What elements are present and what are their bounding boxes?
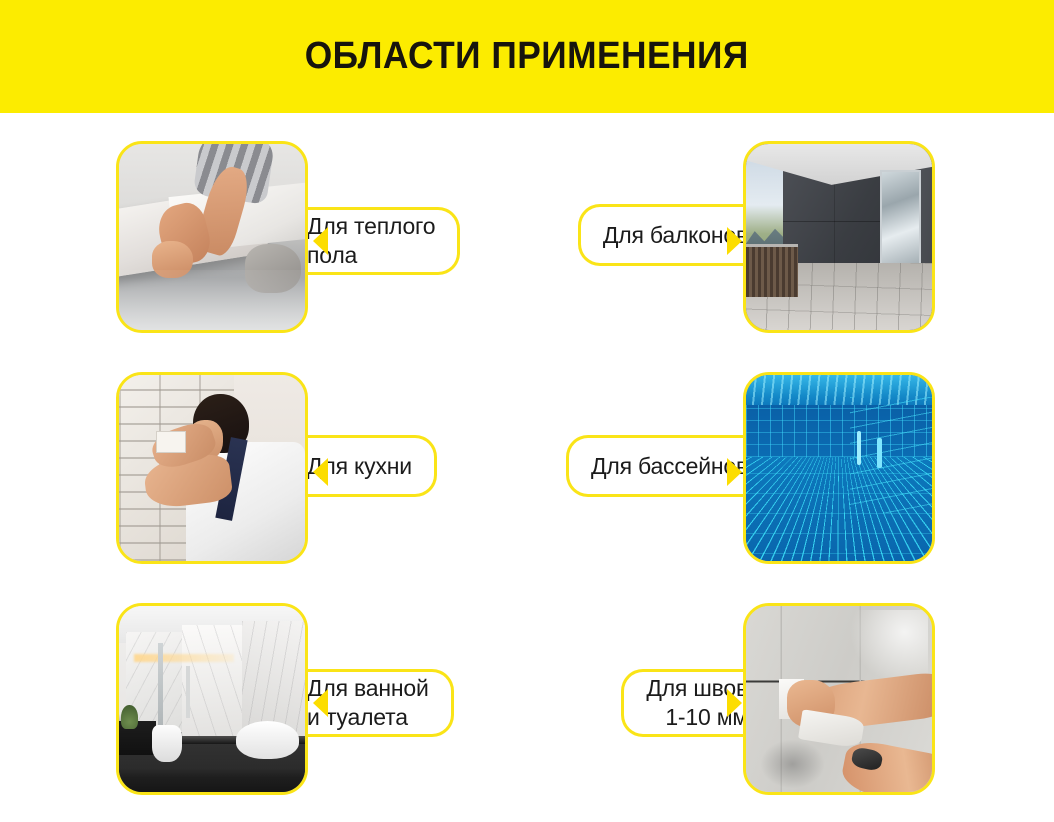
bathroom-photo[interactable] <box>116 603 308 795</box>
arrow-left-icon <box>313 458 328 486</box>
warm-floor-photo[interactable] <box>116 141 308 333</box>
card-pools[interactable]: Для бассейнов <box>478 372 948 572</box>
balcony-photo[interactable] <box>743 141 935 333</box>
arrow-left-icon <box>313 689 328 717</box>
card-seams[interactable]: Для швов 1-10 мм <box>478 603 948 803</box>
arrow-right-icon <box>727 689 742 717</box>
card-label-pools: Для бассейнов <box>591 452 748 481</box>
header-banner: ОБЛАСТИ ПРИМЕНЕНИЯ <box>0 0 1054 113</box>
kitchen-photo[interactable] <box>116 372 308 564</box>
page-title: ОБЛАСТИ ПРИМЕНЕНИЯ <box>305 35 749 78</box>
seam-photo[interactable] <box>743 603 935 795</box>
arrow-right-icon <box>727 458 742 486</box>
application-areas-grid: Для теплого пола Для балконов <box>0 113 1054 822</box>
arrow-right-icon <box>727 227 742 255</box>
arrow-left-icon <box>313 227 328 255</box>
card-balconies[interactable]: Для балконов <box>478 141 948 341</box>
pool-photo[interactable] <box>743 372 935 564</box>
